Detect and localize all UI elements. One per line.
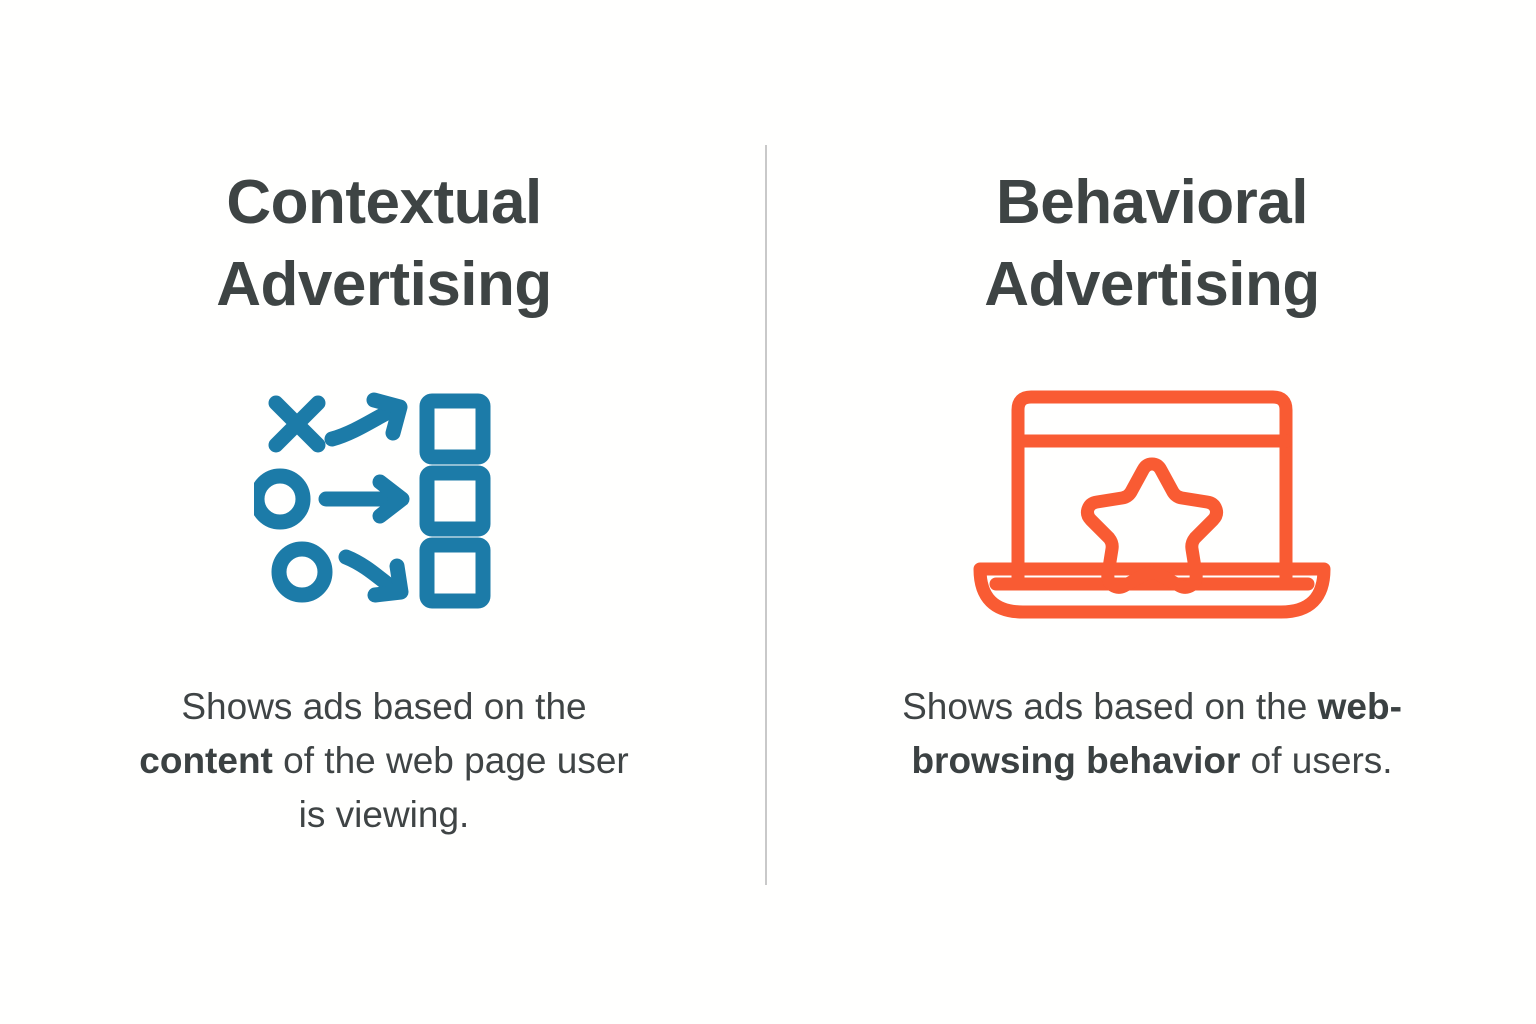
curved-up-arrow-icon <box>332 400 400 439</box>
flow-arrows-to-boxes-icon <box>254 389 514 619</box>
caption-text-after: of the web page user is viewing. <box>273 740 629 835</box>
caption-text-before: Shows ads based on the <box>181 686 586 727</box>
comparison-columns: Contextual Advertising <box>0 0 1536 900</box>
caption-text-after: of users. <box>1240 740 1392 781</box>
star-icon <box>1087 464 1216 587</box>
curved-down-arrow-icon <box>346 557 401 595</box>
square-icon <box>427 545 483 601</box>
caption-emphasis: content <box>139 740 273 781</box>
column-behavioral: Behavioral Advertising <box>768 0 1536 900</box>
laptop-with-star-icon <box>972 388 1332 620</box>
x-mark-icon <box>276 403 318 445</box>
column-contextual: Contextual Advertising <box>0 0 768 900</box>
ring-icon <box>257 476 303 522</box>
ring-icon <box>279 549 325 595</box>
straight-arrow-icon <box>326 482 402 516</box>
icon-contextual-wrap <box>254 384 514 624</box>
square-icon <box>427 401 483 457</box>
icon-behavioral-wrap <box>972 384 1332 624</box>
caption-contextual: Shows ads based on the content of the we… <box>124 680 644 843</box>
laptop-lid-icon <box>1018 397 1286 584</box>
heading-behavioral: Behavioral Advertising <box>892 162 1412 326</box>
caption-text-before: Shows ads based on the <box>902 686 1318 727</box>
square-icon <box>427 473 483 529</box>
heading-contextual: Contextual Advertising <box>124 162 644 326</box>
comparison-infographic: Contextual Advertising <box>0 0 1536 1024</box>
caption-behavioral: Shows ads based on the web-browsing beha… <box>882 680 1422 789</box>
